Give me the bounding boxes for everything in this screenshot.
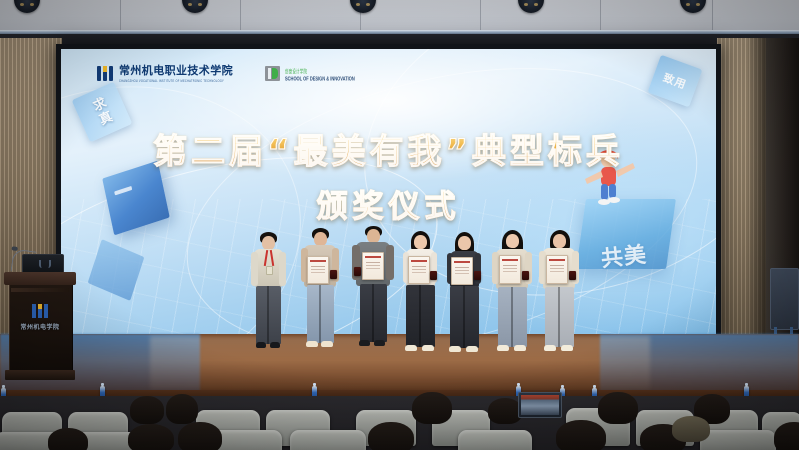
arm-left bbox=[492, 252, 499, 284]
medal-box bbox=[430, 271, 437, 280]
audience-seat bbox=[290, 430, 366, 450]
deco-hex-text: 共美 bbox=[600, 243, 648, 271]
audience-seat bbox=[458, 430, 532, 450]
shoe-left bbox=[497, 345, 509, 351]
ceiling-seam bbox=[712, 0, 713, 34]
head bbox=[262, 236, 275, 250]
head bbox=[414, 235, 427, 249]
ceiling-seam bbox=[120, 0, 121, 34]
audience-head bbox=[130, 396, 164, 424]
shoe-right bbox=[422, 345, 434, 351]
wide-trousers bbox=[545, 287, 574, 347]
shoe-left bbox=[449, 346, 461, 352]
medal-box bbox=[474, 271, 481, 280]
person-presenter-teacher bbox=[248, 232, 288, 372]
award-certificate bbox=[546, 255, 568, 284]
ceremony-title-line-2: 颁奖仪式 bbox=[61, 181, 716, 226]
arm-right bbox=[386, 245, 394, 280]
audience-head bbox=[488, 398, 522, 424]
shoe-left bbox=[306, 341, 318, 347]
podium-top-surface bbox=[4, 272, 76, 285]
arm-left bbox=[251, 252, 258, 286]
institute-name-en: CHANGZHOU VOCATIONAL INSTITUTE OF MECHAT… bbox=[119, 79, 233, 84]
person-awardee-4 bbox=[400, 231, 440, 375]
podium-trim-strip bbox=[11, 288, 69, 292]
award-certificate bbox=[362, 252, 384, 280]
school-of-design-logo: 创意设计学院 SCHOOL OF DESIGN & INNOVATION bbox=[265, 66, 355, 81]
design-school-logo-mark-icon bbox=[265, 66, 280, 81]
institute-name-cn: 常州机电职业技术学院 bbox=[119, 66, 233, 77]
person-awardee-5 bbox=[444, 232, 484, 375]
medal-box bbox=[330, 270, 337, 279]
person-awardee-6 bbox=[491, 230, 533, 376]
changzhou-institute-logo: 常州机电职业技术学院 CHANGZHOU VOCATIONAL INSTITUT… bbox=[97, 66, 233, 82]
podium-base bbox=[5, 370, 75, 380]
head bbox=[506, 234, 519, 248]
shoe-left bbox=[359, 340, 370, 346]
person-awardee-7 bbox=[538, 230, 580, 376]
audience-head bbox=[598, 392, 638, 424]
trousers bbox=[360, 284, 387, 342]
audience-head bbox=[128, 424, 174, 450]
jeans bbox=[307, 285, 334, 343]
institute-logo-mark-icon bbox=[97, 66, 114, 81]
shoe-right bbox=[514, 345, 526, 351]
screen-logo-row: 常州机电职业技术学院 CHANGZHOU VOCATIONAL INSTITUT… bbox=[97, 66, 355, 82]
wide-jeans bbox=[498, 287, 527, 347]
shoe-left bbox=[544, 345, 556, 351]
audience-head bbox=[368, 422, 414, 450]
ceiling-seam bbox=[480, 0, 481, 34]
wide-trousers bbox=[406, 285, 435, 347]
podium-logo-label: 常州机电学院 bbox=[6, 322, 74, 331]
award-certificate bbox=[307, 256, 329, 284]
medal-box bbox=[354, 267, 361, 276]
arm-right bbox=[279, 252, 286, 286]
podium-logo-mark-icon bbox=[32, 304, 48, 318]
audience-seat bbox=[700, 430, 776, 450]
head bbox=[458, 236, 471, 250]
medal-box bbox=[522, 271, 529, 280]
audience-head bbox=[556, 420, 606, 450]
audience-head bbox=[412, 392, 452, 424]
shoe-left bbox=[405, 345, 417, 351]
shoe-right bbox=[321, 341, 333, 347]
id-badge bbox=[266, 266, 273, 275]
shoe-right bbox=[561, 345, 573, 351]
ceremony-title-line-1: 第二届“最美有我”典型标兵 bbox=[61, 124, 716, 173]
auditorium-ceremony-photo: 常州机电职业技术学院 CHANGZHOU VOCATIONAL INSTITUT… bbox=[0, 0, 799, 450]
audience-head bbox=[178, 422, 222, 450]
award-certificate bbox=[408, 256, 430, 284]
ceiling-seam bbox=[600, 0, 601, 34]
audience-head bbox=[166, 394, 198, 424]
side-chair bbox=[770, 268, 799, 330]
audience-head bbox=[48, 428, 88, 450]
speaking-podium: 常州机电学院 bbox=[6, 272, 74, 380]
award-certificate bbox=[499, 255, 521, 284]
head bbox=[553, 234, 566, 248]
audience-area bbox=[0, 396, 799, 450]
shoe-right bbox=[374, 340, 385, 346]
head bbox=[367, 229, 380, 243]
award-certificate bbox=[451, 257, 473, 285]
design-school-name-en: SCHOOL OF DESIGN & INNOVATION bbox=[285, 75, 355, 82]
trousers bbox=[256, 286, 281, 344]
shoe-right bbox=[466, 346, 478, 352]
arm-left bbox=[539, 251, 546, 284]
ceiling-seam bbox=[240, 0, 241, 34]
audience-head-cap bbox=[672, 416, 710, 442]
shoe-right bbox=[270, 342, 280, 348]
cargo-trousers bbox=[450, 286, 479, 348]
head bbox=[314, 232, 327, 246]
person-awardee-3 bbox=[352, 226, 394, 374]
shoe-left bbox=[256, 342, 266, 348]
medal-box bbox=[569, 271, 576, 280]
laptop-screen bbox=[518, 392, 562, 418]
person-awardee-2 bbox=[300, 228, 340, 374]
